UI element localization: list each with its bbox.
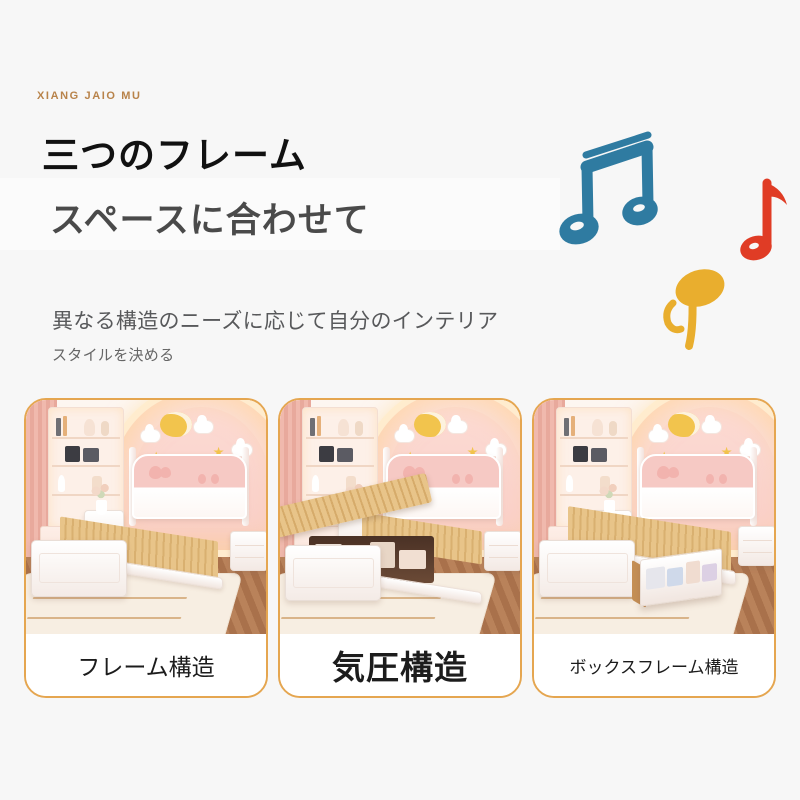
page-title-line-1: 三つのフレーム bbox=[42, 125, 307, 179]
structure-options-card-list: フレーム構造 bbox=[24, 398, 776, 698]
card-frame-structure[interactable]: フレーム構造 bbox=[24, 398, 268, 698]
page-title-line-2: スペースに合わせて bbox=[50, 192, 370, 243]
card-box-frame-structure[interactable]: ボックスフレーム構造 bbox=[532, 398, 776, 698]
music-notes-decoration bbox=[555, 125, 800, 355]
card-caption-gas-lift-structure: 気圧構造 bbox=[280, 634, 520, 696]
subtitle-line-2: スタイルを決める bbox=[52, 344, 174, 365]
card-image-frame-structure bbox=[26, 400, 266, 634]
card-caption-frame-structure: フレーム構造 bbox=[26, 634, 266, 696]
card-caption-box-frame-structure: ボックスフレーム構造 bbox=[534, 634, 774, 696]
card-gas-lift-structure[interactable]: 気圧構造 bbox=[278, 398, 522, 698]
subtitle-line-1: 異なる構造のニーズに応じて自分のインテリア bbox=[52, 305, 498, 335]
yellow-eighth-note-icon bbox=[667, 263, 730, 346]
card-image-gas-lift-structure bbox=[280, 400, 520, 634]
red-eighth-note-icon bbox=[737, 183, 787, 264]
card-image-box-frame-structure bbox=[534, 400, 774, 634]
brand-logo-text: XIANG JAIO MU bbox=[37, 90, 142, 102]
